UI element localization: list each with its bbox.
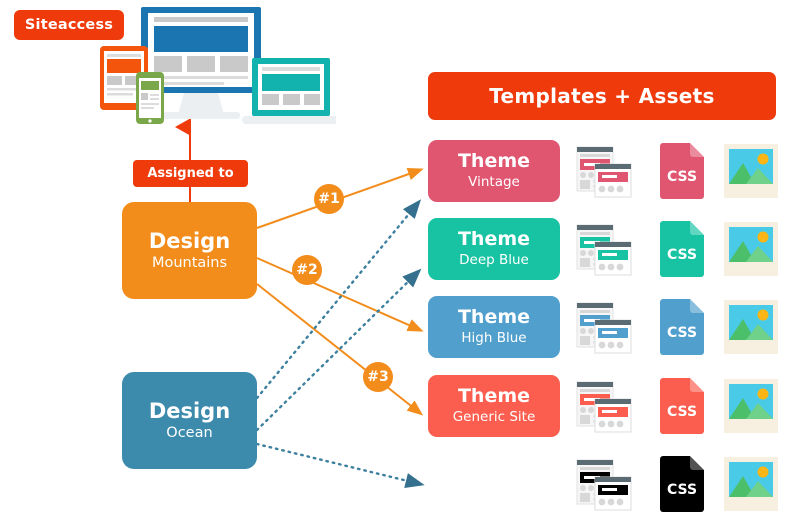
theme-title: Theme bbox=[458, 152, 530, 171]
assigned-to-label: Assigned to bbox=[147, 166, 233, 181]
connector-badge-3: #3 bbox=[363, 362, 393, 392]
css-label: CSS bbox=[667, 247, 697, 263]
css-label: CSS bbox=[667, 325, 697, 341]
connector-badge-2: #2 bbox=[292, 255, 322, 285]
photo-polaroid-icon[interactable] bbox=[724, 300, 778, 354]
connector-mountains-to-generic-site bbox=[257, 284, 420, 413]
design-title: Design bbox=[149, 400, 230, 422]
design-node-ocean[interactable]: Design Ocean bbox=[122, 372, 257, 469]
theme-subtitle: Vintage bbox=[468, 174, 520, 190]
theme-row-vintage: Theme Vintage CSS bbox=[428, 140, 778, 202]
css-file-icon[interactable]: CSS bbox=[660, 456, 704, 512]
photo-polaroid-icon[interactable] bbox=[724, 144, 778, 198]
css-label: CSS bbox=[667, 404, 697, 420]
mobile-phone-icon bbox=[136, 72, 164, 124]
design-subtitle: Mountains bbox=[152, 255, 227, 271]
theme-box-generic-portal[interactable]: Theme Generic Portal bbox=[428, 453, 560, 515]
theme-subtitle: Generic Portal bbox=[446, 487, 541, 503]
theme-subtitle: Deep Blue bbox=[459, 252, 529, 268]
connector-ocean-to-mid bbox=[257, 272, 418, 430]
theme-row-generic-portal: Theme Generic Portal CSS bbox=[428, 453, 778, 515]
theme-row-deep-blue: Theme Deep Blue CSS bbox=[428, 218, 778, 280]
css-label: CSS bbox=[667, 169, 697, 185]
theme-row-high-blue: Theme High Blue CSS bbox=[428, 296, 778, 358]
template-mockup-icon[interactable] bbox=[576, 300, 632, 354]
assigned-to-badge: Assigned to bbox=[133, 160, 248, 187]
connector-ocean-to-deep-blue bbox=[257, 203, 418, 398]
theme-subtitle: Generic Site bbox=[453, 409, 536, 425]
theme-title: Theme bbox=[458, 230, 530, 249]
photo-polaroid-icon[interactable] bbox=[724, 379, 778, 433]
design-node-mountains[interactable]: Design Mountains bbox=[122, 202, 257, 299]
connector-ocean-to-generic-portal bbox=[257, 444, 420, 484]
template-mockup-icon[interactable] bbox=[576, 144, 632, 198]
siteaccess-label: Siteaccess bbox=[25, 17, 113, 33]
photo-polaroid-icon[interactable] bbox=[724, 457, 778, 511]
css-label: CSS bbox=[667, 482, 697, 498]
css-file-icon[interactable]: CSS bbox=[660, 378, 704, 434]
css-file-icon[interactable]: CSS bbox=[660, 143, 704, 199]
theme-title: Theme bbox=[458, 387, 530, 406]
laptop-device-icon bbox=[242, 58, 336, 124]
theme-box-high-blue[interactable]: Theme High Blue bbox=[428, 296, 560, 358]
templates-assets-banner: Templates + Assets bbox=[428, 72, 776, 120]
template-mockup-icon[interactable] bbox=[576, 379, 632, 433]
theme-subtitle: High Blue bbox=[461, 330, 526, 346]
siteaccess-badge: Siteaccess bbox=[14, 10, 124, 40]
connector-badge-1: #1 bbox=[314, 184, 344, 214]
theme-row-generic-site: Theme Generic Site CSS bbox=[428, 375, 778, 437]
css-file-icon[interactable]: CSS bbox=[660, 299, 704, 355]
connector-badge-label: #2 bbox=[296, 262, 317, 278]
theme-box-generic-site[interactable]: Theme Generic Site bbox=[428, 375, 560, 437]
connector-badge-label: #1 bbox=[318, 191, 339, 207]
diagram-canvas: Siteaccess Assigned to Design Mountains … bbox=[0, 0, 788, 520]
photo-polaroid-icon[interactable] bbox=[724, 222, 778, 276]
theme-box-vintage[interactable]: Theme Vintage bbox=[428, 140, 560, 202]
design-subtitle: Ocean bbox=[166, 425, 212, 441]
theme-title: Theme bbox=[458, 308, 530, 327]
design-title: Design bbox=[149, 230, 230, 252]
theme-box-deep-blue[interactable]: Theme Deep Blue bbox=[428, 218, 560, 280]
template-mockup-icon[interactable] bbox=[576, 222, 632, 276]
connector-badge-label: #3 bbox=[367, 369, 388, 385]
templates-assets-label: Templates + Assets bbox=[489, 84, 715, 108]
device-illustration bbox=[96, 4, 336, 140]
css-file-icon[interactable]: CSS bbox=[660, 221, 704, 277]
theme-title: Theme bbox=[458, 465, 530, 484]
template-mockup-icon[interactable] bbox=[576, 457, 632, 511]
